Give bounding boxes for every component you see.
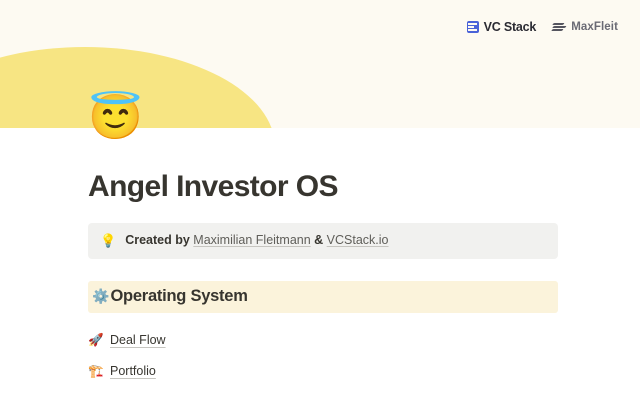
rocket-icon: 🚀 xyxy=(88,334,103,347)
page-link-deal-flow[interactable]: 🚀 Deal Flow xyxy=(88,330,558,351)
brand-maxfleit[interactable]: MaxFleit xyxy=(552,21,618,33)
page-link-portfolio[interactable]: 🏗️ Portfolio xyxy=(88,361,558,382)
section-heading-label: Operating System xyxy=(110,287,247,306)
author-link[interactable]: Maximilian Fleitmann xyxy=(193,233,310,247)
brand-label-maxfleit: MaxFleit xyxy=(571,21,618,33)
page-content: Angel Investor OS 💡 Created by Maximilia… xyxy=(88,170,558,400)
page-title: Angel Investor OS xyxy=(88,170,558,205)
notion-page: VC Stack MaxFleit 😇 Angel Investor OS 💡 … xyxy=(0,0,640,400)
section-heading-operating-system: ⚙️ Operating System xyxy=(88,281,558,313)
page-link-label: Deal Flow xyxy=(110,333,166,347)
diagonal-lines-icon xyxy=(552,22,566,33)
list-spacer xyxy=(88,352,558,361)
brand-vc-stack[interactable]: VC Stack xyxy=(467,20,537,34)
callout-text: Created by Maximilian Fleitmann & VCStac… xyxy=(125,232,388,249)
light-bulb-icon: 💡 xyxy=(100,232,116,249)
page-link-label: Portfolio xyxy=(110,364,156,378)
stack-square-icon xyxy=(467,21,479,33)
brand-label-vc-stack: VC Stack xyxy=(484,20,537,34)
site-link[interactable]: VCStack.io xyxy=(327,233,389,247)
callout-separator: & xyxy=(311,233,327,247)
list-spacer xyxy=(88,392,558,400)
building-construction-icon: 🏗️ xyxy=(88,365,103,378)
page-link-list: 🚀 Deal Flow 🏗️ Portfolio 🗃️ xyxy=(88,330,558,400)
page-icon-smiling-face-with-halo-icon[interactable]: 😇 xyxy=(88,96,143,140)
gear-icon: ⚙️ xyxy=(92,289,109,303)
callout-lead: Created by xyxy=(125,233,193,247)
callout-block: 💡 Created by Maximilian Fleitmann & VCSt… xyxy=(88,223,558,259)
brand-bar: VC Stack MaxFleit xyxy=(467,20,618,34)
list-spacer xyxy=(88,383,558,392)
